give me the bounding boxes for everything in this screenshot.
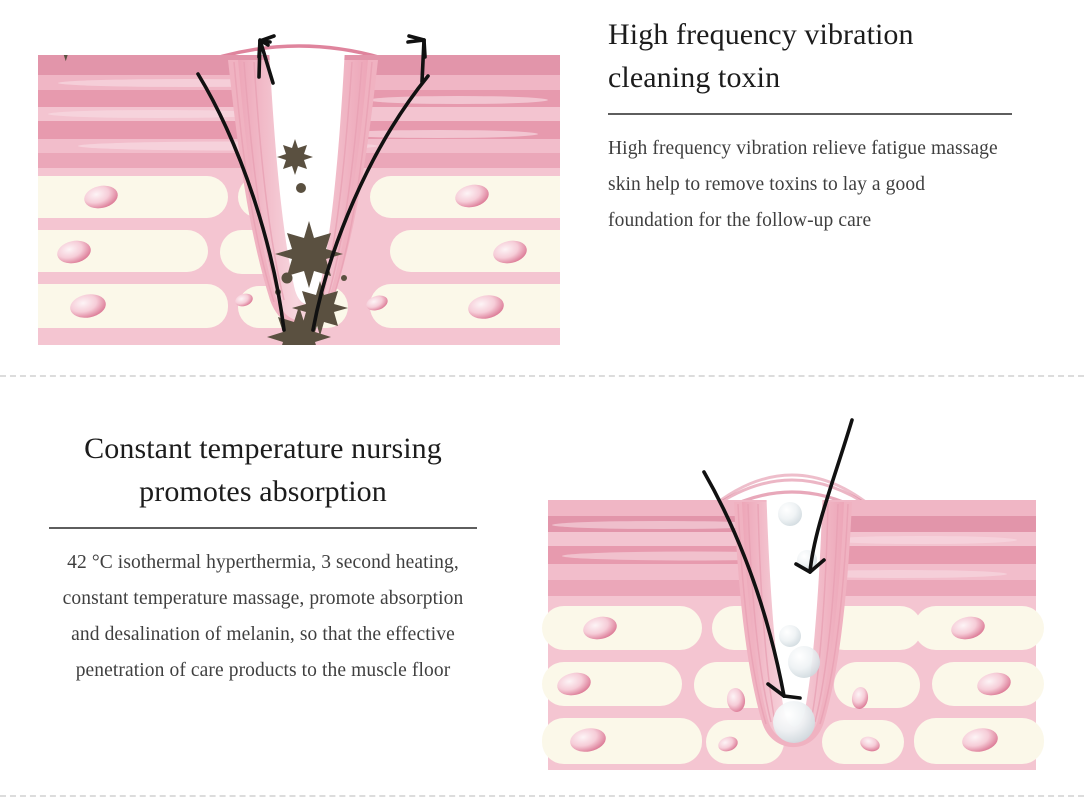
section-body: 42 °C isothermal hyperthermia, 3 second … <box>49 545 477 689</box>
skin-pore-absorption-diagram <box>522 410 1062 770</box>
heading-rule <box>49 527 477 529</box>
section-body: High frequency vibration relieve fatigue… <box>608 131 1012 239</box>
skin-pore-toxin-cleaning-diagram <box>38 0 560 350</box>
heading-rule <box>608 113 1012 115</box>
section-text-constant-temperature: Constant temperature nursing promotes ab… <box>49 428 477 689</box>
product-feature-page: High frequency vibration cleaning toxin … <box>0 0 1084 800</box>
section-heading: Constant temperature nursing promotes ab… <box>49 428 477 513</box>
section-text-high-frequency: High frequency vibration cleaning toxin … <box>608 14 1012 239</box>
section-heading: High frequency vibration cleaning toxin <box>608 14 1012 99</box>
section-divider <box>0 795 1084 797</box>
section-divider <box>0 375 1084 377</box>
